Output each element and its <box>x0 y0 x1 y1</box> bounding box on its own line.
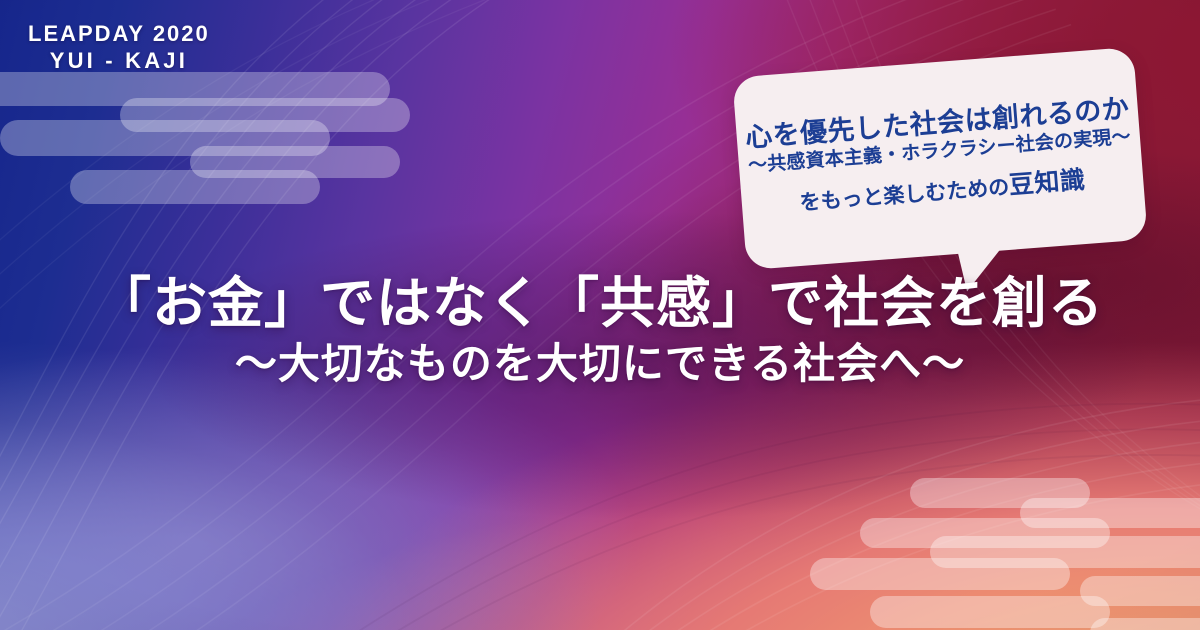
main-title-block: 「お金」ではなく「共感」で社会を創る ～大切なものを大切にできる社会へ～ <box>0 272 1200 389</box>
bubble-line-3-prefix: をもっと楽しむための <box>799 176 1010 215</box>
cloud-bar <box>870 596 1110 628</box>
speech-bubble-content: 心を優先した社会は創れるのか ～共感資本主義・ホラクラシー社会の実現～ をもっと… <box>732 47 1148 270</box>
bubble-line-3: をもっと楽しむための豆知識 <box>798 165 1086 218</box>
brand-lockup: LEAPDAY 2020 YUI - KAJI <box>28 22 210 74</box>
cloud-motif-top-left <box>0 72 420 202</box>
banner-canvas: LEAPDAY 2020 YUI - KAJI 心を優先した社会は創れるのか ～… <box>0 0 1200 630</box>
cloud-bar <box>810 558 1070 590</box>
title-line-1: 「お金」ではなく「共感」で社会を創る <box>0 272 1200 335</box>
event-name: LEAPDAY 2020 <box>28 22 210 47</box>
bubble-line-3-emphasis: 豆知識 <box>1008 166 1086 200</box>
title-line-2: ～大切なものを大切にできる社会へ～ <box>0 339 1200 389</box>
cloud-bar <box>1090 618 1200 630</box>
cloud-motif-bottom-right <box>890 478 1200 630</box>
speech-bubble: 心を優先した社会は創れるのか ～共感資本主義・ホラクラシー社会の実現～ をもっと… <box>732 47 1148 270</box>
speaker-name: YUI - KAJI <box>28 47 210 75</box>
cloud-bar <box>70 170 320 204</box>
